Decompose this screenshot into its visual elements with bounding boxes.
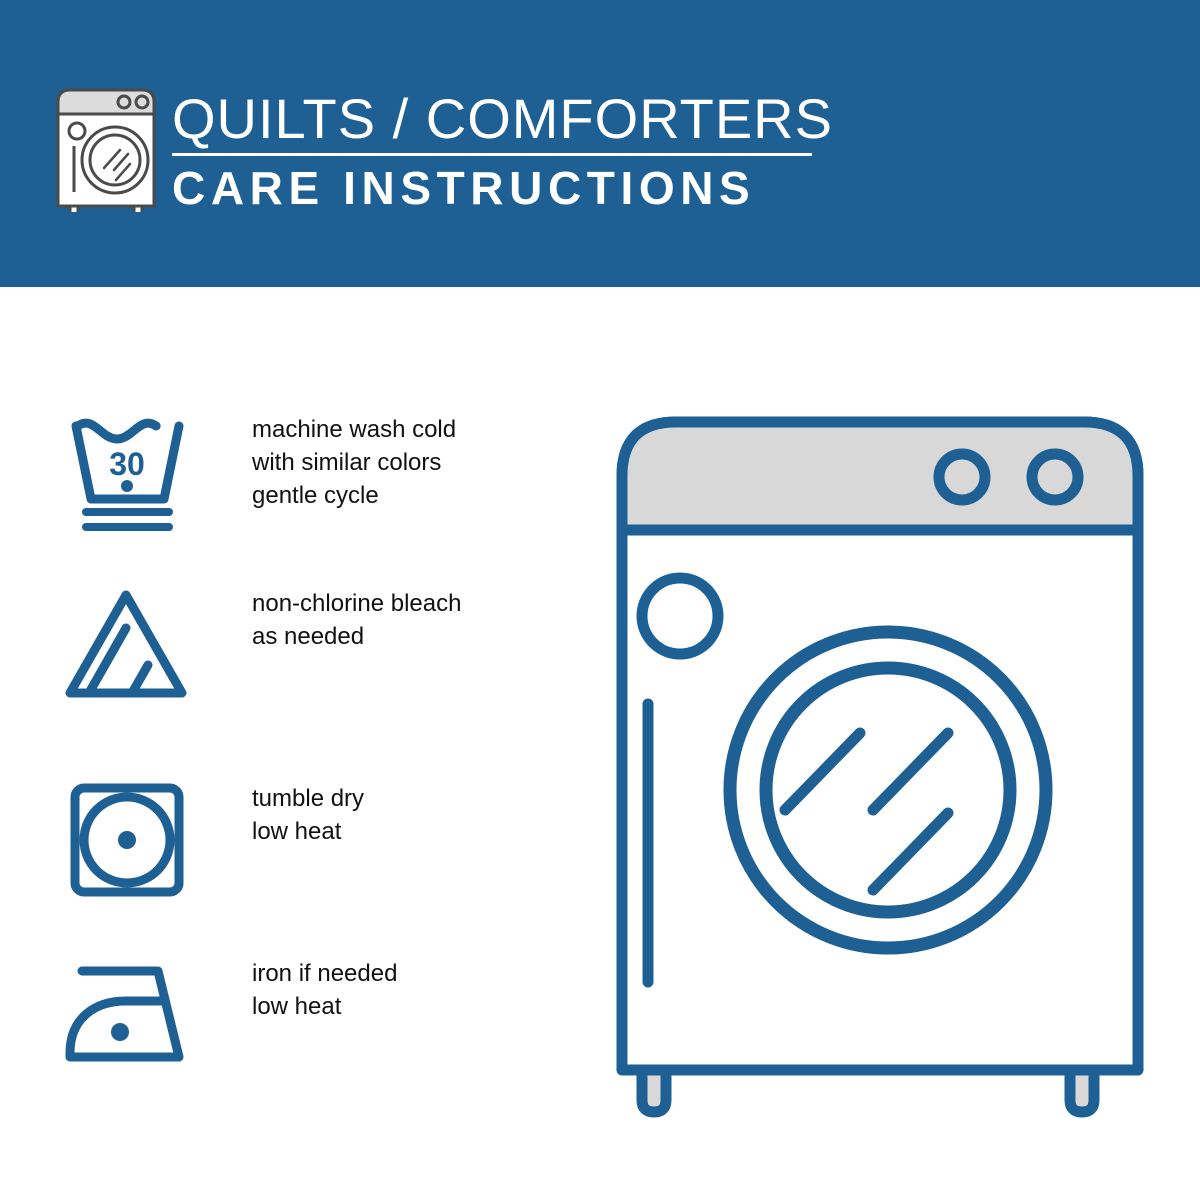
wash-temp-label: 30 [109, 446, 145, 482]
leg-right [1070, 1070, 1094, 1112]
care-text-line: non-chlorine bleach [252, 587, 552, 620]
wash-basin-30-gentle-icon: 30 [60, 413, 192, 533]
care-instructions-infographic: QUILTS / COMFORTERS CARE INSTRUCTIONS 30 [0, 0, 1200, 1200]
leg-left [642, 1070, 666, 1112]
title-divider [172, 153, 812, 156]
page-subtitle: CARE INSTRUCTIONS [172, 160, 822, 216]
washing-machine-icon [52, 84, 160, 212]
care-symbol-list: 30 machine wash cold with similar colors… [0, 287, 560, 1200]
front-load-washing-machine-illustration [600, 400, 1160, 1120]
non-chlorine-bleach-triangle-icon [60, 587, 192, 707]
care-text-line: with similar colors [252, 446, 552, 479]
care-text-line: iron if needed [252, 957, 552, 990]
care-row-iron: iron if needed low heat [0, 957, 560, 1107]
care-text-wash: machine wash cold with similar colors ge… [252, 413, 552, 512]
care-text-line: tumble dry [252, 782, 552, 815]
care-row-tumble-dry: tumble dry low heat [0, 782, 560, 932]
care-text-line: low heat [252, 815, 552, 848]
care-text-tumble-dry: tumble dry low heat [252, 782, 552, 848]
iron-low-heat-icon [60, 957, 192, 1077]
care-text-line: gentle cycle [252, 479, 552, 512]
control-panel [622, 422, 1138, 530]
care-row-wash: 30 machine wash cold with similar colors… [0, 413, 560, 563]
tumble-dry-low-icon [60, 782, 192, 902]
care-text-iron: iron if needed low heat [252, 957, 552, 1023]
care-text-bleach: non-chlorine bleach as needed [252, 587, 552, 653]
care-text-line: low heat [252, 990, 552, 1023]
header-title-group: QUILTS / COMFORTERS CARE INSTRUCTIONS [172, 88, 822, 216]
care-text-line: as needed [252, 620, 552, 653]
header-banner: QUILTS / COMFORTERS CARE INSTRUCTIONS [0, 0, 1200, 287]
page-title: QUILTS / COMFORTERS [172, 88, 822, 150]
care-text-line: machine wash cold [252, 413, 552, 446]
care-row-bleach: non-chlorine bleach as needed [0, 587, 560, 737]
